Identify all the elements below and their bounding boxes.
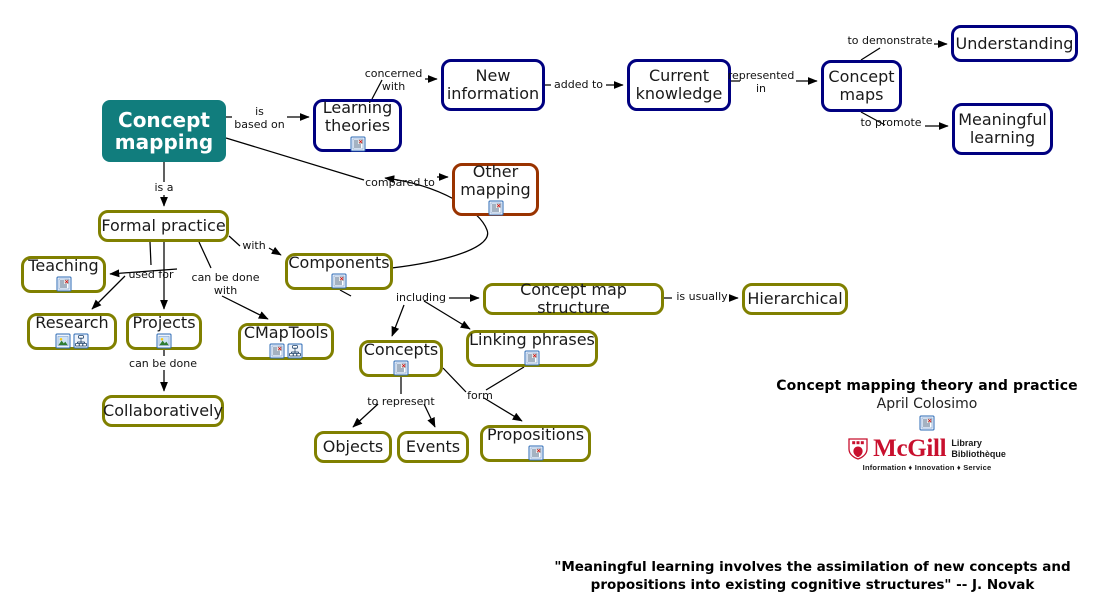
credits-title: Concept mapping theory and practice — [762, 378, 1092, 394]
link-label-form: form — [464, 390, 496, 403]
document-icon[interactable] — [524, 350, 540, 366]
document-icon[interactable] — [919, 415, 935, 431]
node-label: Events — [406, 438, 460, 456]
node-label: Components — [288, 254, 389, 272]
node-label: Objects — [323, 438, 383, 456]
link-label-can-be-done: can be done — [126, 358, 200, 371]
document-icon[interactable] — [269, 343, 285, 359]
node-objects[interactable]: Objects — [314, 431, 392, 463]
node-concept-map-structure[interactable]: Concept map structure — [483, 283, 664, 315]
mcgill-tagline: Information ♦ Innovation ♦ Service — [863, 463, 992, 472]
node-label: Collaboratively — [103, 402, 223, 420]
node-label: Hierarchical — [747, 290, 842, 308]
node-other-mapping[interactable]: Other mapping — [452, 163, 539, 216]
node-label: Research — [35, 314, 108, 332]
resource-icons — [331, 273, 347, 289]
credits-author: April Colosimo — [762, 396, 1092, 412]
node-meaningful-learning[interactable]: Meaningful learning — [952, 103, 1053, 155]
link-label-is-usually: is usually — [673, 291, 731, 304]
concept-map-canvas: Concept mapping Learning theories New in… — [0, 0, 1106, 605]
node-label: Other mapping — [460, 163, 530, 199]
link-label-including: including — [394, 292, 448, 305]
node-label: New information — [447, 67, 539, 103]
node-research[interactable]: Research — [27, 313, 117, 350]
document-icon[interactable] — [350, 136, 366, 152]
node-concept-mapping[interactable]: Concept mapping — [102, 100, 226, 162]
document-icon[interactable] — [528, 445, 544, 461]
node-hierarchical[interactable]: Hierarchical — [742, 283, 848, 315]
image-icon[interactable] — [156, 333, 172, 349]
node-label: Concept maps — [828, 68, 894, 104]
node-label: Concepts — [364, 341, 439, 359]
node-collaboratively[interactable]: Collaboratively — [102, 395, 224, 427]
link-label-can-be-done-with: can be done with — [189, 272, 262, 297]
link-label-to-demonstrate: to demonstrate — [846, 35, 934, 48]
link-label-is-a: is a — [148, 182, 180, 195]
resource-icons — [56, 276, 72, 292]
resource-icons — [528, 445, 544, 461]
resource-icons — [393, 360, 409, 376]
resource-icons — [269, 343, 303, 359]
credits-resource-icon — [762, 415, 1092, 431]
node-formal-practice[interactable]: Formal practice — [98, 210, 229, 242]
node-projects[interactable]: Projects — [126, 313, 202, 350]
resource-icons — [524, 350, 540, 366]
node-label: Formal practice — [101, 217, 225, 235]
node-label: Current knowledge — [636, 67, 723, 103]
node-learning-theories[interactable]: Learning theories — [313, 99, 402, 152]
node-label: Meaningful learning — [958, 111, 1047, 147]
node-concepts[interactable]: Concepts — [359, 340, 443, 377]
node-cmaptools[interactable]: CMapTools — [238, 323, 334, 360]
mcgill-shield-icon — [848, 438, 868, 460]
node-label: Learning theories — [323, 99, 392, 135]
link-label-to-promote: to promote — [857, 117, 925, 130]
mcgill-wordmark: McGill — [873, 436, 946, 461]
link-label-compared-to: compared to — [363, 177, 437, 190]
resource-icons — [488, 200, 504, 216]
link-label-added-to: added to — [551, 79, 606, 92]
link-label-to-represent: to represent — [363, 396, 439, 409]
node-label: Projects — [132, 314, 195, 332]
node-propositions[interactable]: Propositions — [480, 425, 591, 462]
node-understanding[interactable]: Understanding — [951, 25, 1078, 62]
node-current-knowledge[interactable]: Current knowledge — [627, 59, 731, 111]
node-components[interactable]: Components — [285, 253, 393, 290]
link-label-used-for: used for — [125, 269, 177, 282]
library-fr: Bibliothèque — [951, 449, 1006, 459]
link-label-is-based-on: is based on — [232, 106, 287, 131]
link-label-represented-in: represented in — [726, 70, 796, 95]
cmap-icon[interactable] — [287, 343, 303, 359]
node-concept-maps[interactable]: Concept maps — [821, 60, 902, 112]
resource-icons — [156, 333, 172, 349]
resource-icons — [55, 333, 89, 349]
document-icon[interactable] — [331, 273, 347, 289]
node-label: Concept mapping — [115, 109, 213, 154]
credits-block: Concept mapping theory and practice Apri… — [762, 378, 1092, 472]
novak-quote: "Meaningful learning involves the assimi… — [525, 558, 1100, 594]
node-teaching[interactable]: Teaching — [21, 256, 106, 293]
document-icon[interactable] — [488, 200, 504, 216]
node-linking-phrases[interactable]: Linking phrases — [466, 330, 598, 367]
cmap-icon[interactable] — [73, 333, 89, 349]
document-icon[interactable] — [56, 276, 72, 292]
node-label: CMapTools — [244, 324, 328, 342]
node-label: Teaching — [28, 257, 98, 275]
mcgill-library-logo[interactable]: McGill Library Bibliothèque Information … — [762, 436, 1092, 472]
node-label: Propositions — [487, 426, 584, 444]
node-new-information[interactable]: New information — [441, 59, 545, 111]
node-label: Linking phrases — [469, 331, 595, 349]
link-label-with: with — [239, 240, 269, 253]
node-label: Understanding — [956, 35, 1074, 53]
library-en: Library — [951, 438, 982, 448]
mcgill-library-text: Library Bibliothèque — [951, 438, 1006, 459]
node-label: Concept map structure — [486, 281, 661, 317]
resource-icons — [350, 136, 366, 152]
link-label-concerned-with: concerned with — [362, 68, 425, 93]
image-icon[interactable] — [55, 333, 71, 349]
node-events[interactable]: Events — [397, 431, 469, 463]
mcgill-logo-row: McGill Library Bibliothèque — [848, 436, 1006, 461]
document-icon[interactable] — [393, 360, 409, 376]
